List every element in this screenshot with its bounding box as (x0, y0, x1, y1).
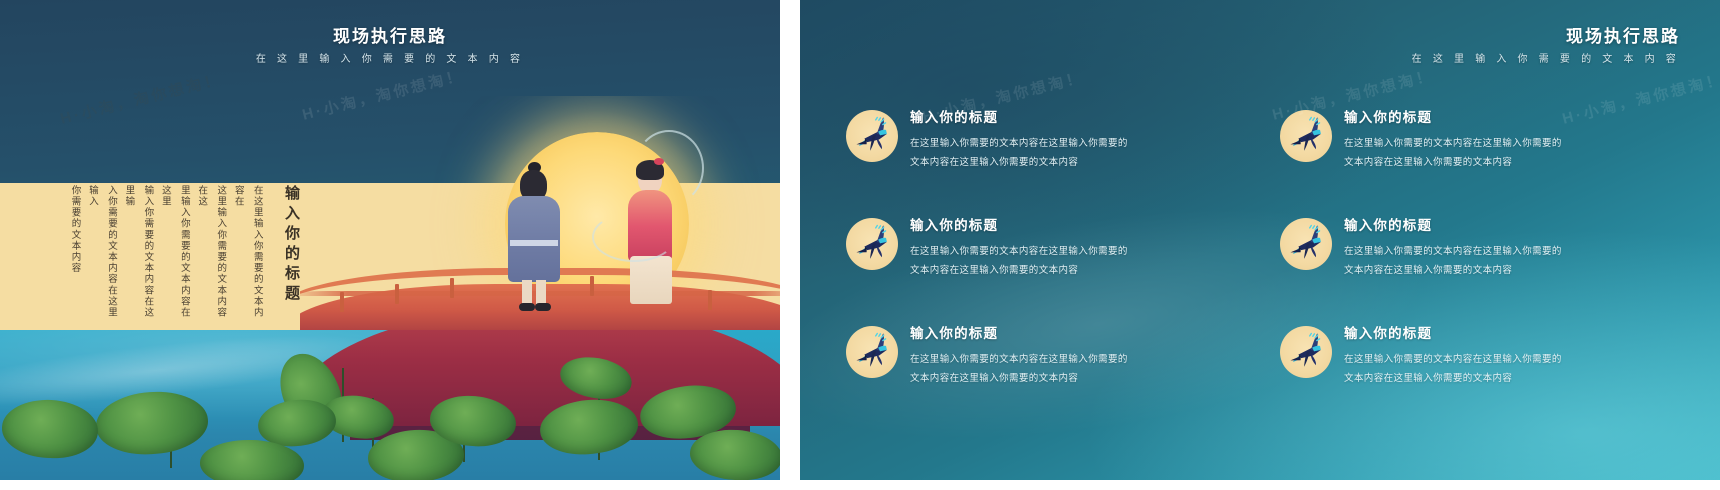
vertical-body-column: 输入你需要的文本内容在这里输 (125, 185, 157, 325)
content-card[interactable]: 输入你的标题 在这里输入你需要的文本内容在这里输入你需要的 文本内容在这里输入你… (1280, 208, 1686, 316)
content-card[interactable]: 输入你的标题 在这里输入你需要的文本内容在这里输入你需要的 文本内容在这里输入你… (1280, 100, 1686, 208)
railing-post (340, 292, 344, 312)
skirt (630, 256, 672, 304)
card-body-line: 在这里输入你需要的文本内容在这里输入你需要的 (910, 135, 1252, 154)
card-body-line: 文本内容在这里输入你需要的文本内容 (910, 370, 1252, 389)
slide-left[interactable]: H·小淘，淘你想淘！ H·小淘，淘你想淘！ (0, 0, 780, 480)
silk-ribbon (592, 212, 676, 262)
card-body-line: 文本内容在这里输入你需要的文本内容 (910, 262, 1252, 281)
card-title: 输入你的标题 (910, 322, 1252, 342)
page-subtitle: 在 这 里 输 入 你 需 要 的 文 本 内 容 (0, 50, 780, 65)
card-body-line: 在这里输入你需要的文本内容在这里输入你需要的 (910, 351, 1252, 370)
slide-divider (780, 0, 800, 490)
silk-ribbon (634, 130, 704, 206)
card-body-line: 文本内容在这里输入你需要的文本内容 (1344, 154, 1686, 173)
card-title: 输入你的标题 (1344, 322, 1686, 342)
male-figure (506, 162, 562, 314)
card-text: 输入你的标题 在这里输入你需要的文本内容在这里输入你需要的 文本内容在这里输入你… (1344, 208, 1686, 280)
card-body-line: 文本内容在这里输入你需要的文本内容 (1344, 370, 1686, 389)
magpie-bird-icon (846, 110, 898, 162)
content-card[interactable]: 输入你的标题 在这里输入你需要的文本内容在这里输入你需要的 文本内容在这里输入你… (1280, 316, 1686, 424)
vertical-body-column: 里输入你需要的文本内容在这里 (161, 185, 193, 325)
card-text: 输入你的标题 在这里输入你需要的文本内容在这里输入你需要的 文本内容在这里输入你… (910, 208, 1252, 280)
magpie-bird-icon (1280, 326, 1332, 378)
magpie-bird-icon (846, 326, 898, 378)
magpie-bird-icon (1280, 218, 1332, 270)
robe (508, 196, 560, 282)
content-card[interactable]: 输入你的标题 在这里输入你需要的文本内容在这里输入你需要的 文本内容在这里输入你… (846, 100, 1252, 208)
page-title: 现场执行思路 (800, 22, 1680, 47)
cards-grid: 输入你的标题 在这里输入你需要的文本内容在这里输入你需要的 文本内容在这里输入你… (846, 100, 1686, 424)
card-text: 输入你的标题 在这里输入你需要的文本内容在这里输入你需要的 文本内容在这里输入你… (1344, 316, 1686, 388)
vertical-body-column: 你需要的文本内容 (52, 185, 84, 325)
railing-post (450, 278, 454, 298)
card-title: 输入你的标题 (1344, 106, 1686, 126)
vertical-body-column: 这里输入你需要的文本内容在这 (198, 185, 230, 325)
card-body-line: 在这里输入你需要的文本内容在这里输入你需要的 (910, 243, 1252, 262)
card-title: 输入你的标题 (910, 106, 1252, 126)
card-text: 输入你的标题 在这里输入你需要的文本内容在这里输入你需要的 文本内容在这里输入你… (1344, 100, 1686, 172)
railing-post (708, 290, 712, 310)
card-body-line: 文本内容在这里输入你需要的文本内容 (910, 154, 1252, 173)
card-text: 输入你的标题 在这里输入你需要的文本内容在这里输入你需要的 文本内容在这里输入你… (910, 100, 1252, 172)
slide-right[interactable]: H·小淘，淘你想淘！ H·小淘，淘你想淘！ H·小淘，淘你想淘！ 现场执行思路 … (800, 0, 1720, 480)
card-body-line: 在这里输入你需要的文本内容在这里输入你需要的 (1344, 351, 1686, 370)
content-card[interactable]: 输入你的标题 在这里输入你需要的文本内容在这里输入你需要的 文本内容在这里输入你… (846, 208, 1252, 316)
card-text: 输入你的标题 在这里输入你需要的文本内容在这里输入你需要的 文本内容在这里输入你… (910, 316, 1252, 388)
vertical-body-column: 在这里输入你需要的文本内容在 (234, 185, 266, 325)
page-title: 现场执行思路 (0, 22, 780, 47)
card-body-line: 文本内容在这里输入你需要的文本内容 (1344, 262, 1686, 281)
magpie-bird-icon (1280, 110, 1332, 162)
content-card[interactable]: 输入你的标题 在这里输入你需要的文本内容在这里输入你需要的 文本内容在这里输入你… (846, 316, 1252, 424)
card-title: 输入你的标题 (1344, 214, 1686, 234)
card-title: 输入你的标题 (910, 214, 1252, 234)
railing-post (590, 276, 594, 296)
card-body-line: 在这里输入你需要的文本内容在这里输入你需要的 (1344, 243, 1686, 262)
vertical-text-block: 输入你的标题 在这里输入你需要的文本内容在 这里输入你需要的文本内容在这 里输入… (52, 185, 302, 331)
page-subtitle: 在 这 里 输 入 你 需 要 的 文 本 内 容 (800, 50, 1680, 65)
railing-post (395, 284, 399, 304)
shoe (519, 303, 535, 311)
slide-deck: H·小淘，淘你想淘！ H·小淘，淘你想淘！ (0, 0, 1720, 490)
belt (510, 240, 558, 246)
vertical-title: 输入你的标题 (283, 185, 300, 331)
magpie-bird-icon (846, 218, 898, 270)
card-body-line: 在这里输入你需要的文本内容在这里输入你需要的 (1344, 135, 1686, 154)
shoe (535, 303, 551, 311)
vertical-body-column: 入你需要的文本内容在这里输入 (88, 185, 120, 325)
